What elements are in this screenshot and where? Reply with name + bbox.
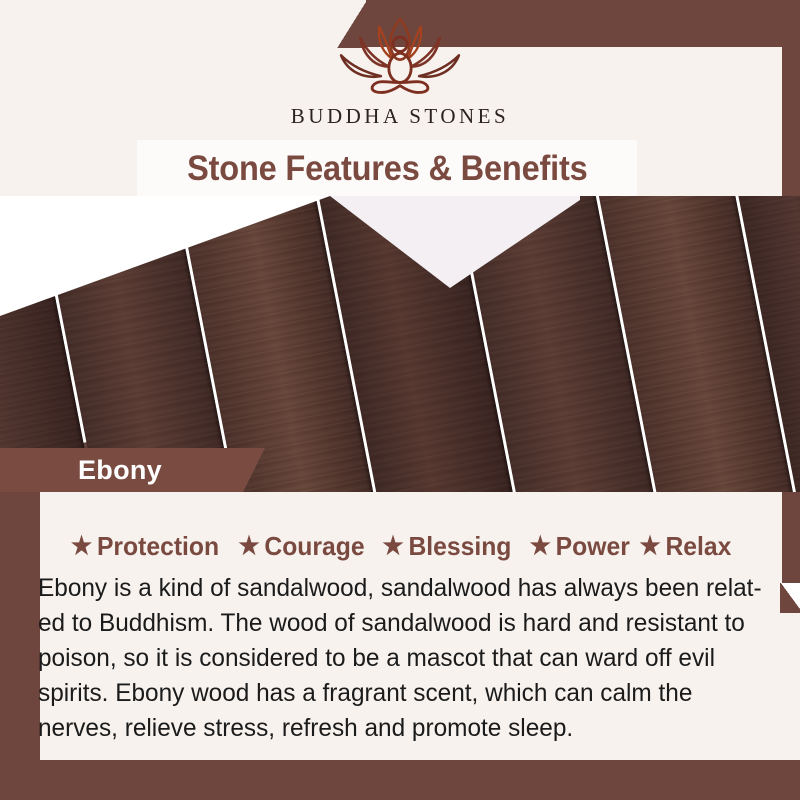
- benefit-label: Protection: [96, 531, 218, 562]
- product-name-label: Ebony: [78, 455, 162, 486]
- star-icon: ★: [530, 534, 551, 559]
- description-line: Ebony is a kind of sandalwood, sandalwoo…: [38, 571, 742, 606]
- description-line: nerves, relieve stress, refresh and prom…: [38, 711, 742, 746]
- benefit-item-protection: ★ Protection: [70, 531, 218, 562]
- lotus-meditation-figure-icon: [320, 14, 480, 100]
- description-paragraph: Ebony is a kind of sandalwood, sandalwoo…: [38, 571, 742, 746]
- star-icon: ★: [639, 534, 660, 559]
- benefit-item-power: ★ Power: [530, 531, 630, 562]
- description-line: ed to Buddhism. The wood of sandalwood i…: [38, 606, 742, 641]
- star-icon: ★: [70, 534, 91, 559]
- description-line: poison, so it is considered to be a masc…: [38, 641, 742, 676]
- frame-bottom-horizontal-arm: [0, 760, 800, 800]
- benefits-row: ★ Protection ★ Courage ★ Blessing ★ Powe…: [0, 525, 800, 567]
- benefit-label: Courage: [264, 531, 364, 562]
- brand-header: BUDDHA STONES: [0, 0, 800, 148]
- brand-name: BUDDHA STONES: [291, 104, 509, 129]
- benefit-item-relax: ★ Relax: [639, 531, 731, 562]
- benefit-label: Blessing: [409, 531, 512, 562]
- star-icon: ★: [383, 534, 404, 559]
- description-line: spirits. Ebony wood has a fragrant scent…: [38, 676, 742, 711]
- frame-right-arm-notch: [780, 583, 800, 613]
- poster-root: BUDDHA STONES Stone Features & Benefits …: [0, 0, 800, 800]
- benefit-label: Power: [556, 531, 630, 562]
- star-icon: ★: [238, 534, 259, 559]
- product-name-banner: Ebony: [0, 448, 265, 492]
- benefit-label: Relax: [665, 531, 731, 562]
- page-title: Stone Features & Benefits: [187, 149, 588, 189]
- benefit-item-blessing: ★ Blessing: [383, 531, 512, 562]
- benefit-item-courage: ★ Courage: [238, 531, 364, 562]
- title-band: Stone Features & Benefits: [137, 140, 637, 198]
- product-photo: [0, 196, 800, 492]
